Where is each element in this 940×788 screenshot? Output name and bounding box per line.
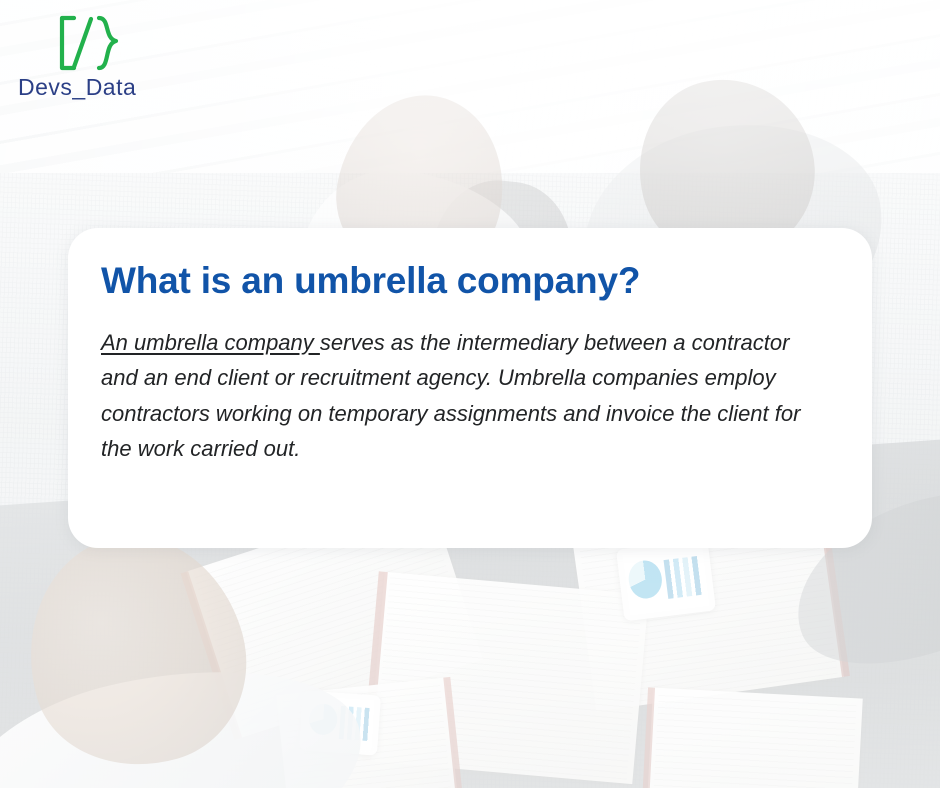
code-bracket-slash-brace-icon xyxy=(54,14,124,72)
infographic-canvas: Devs_Data What is an umbrella company? A… xyxy=(0,0,940,788)
definition-term: An umbrella company xyxy=(101,330,320,355)
brand-name: Devs_Data xyxy=(18,74,198,101)
content-card: What is an umbrella company? An umbrella… xyxy=(68,228,872,548)
page-title: What is an umbrella company? xyxy=(101,260,822,303)
card-body-text: An umbrella company serves as the interm… xyxy=(101,325,822,468)
photo-tablet-chart xyxy=(616,538,716,621)
photo-open-book xyxy=(645,688,863,788)
brand-logo: Devs_Data xyxy=(18,14,198,101)
